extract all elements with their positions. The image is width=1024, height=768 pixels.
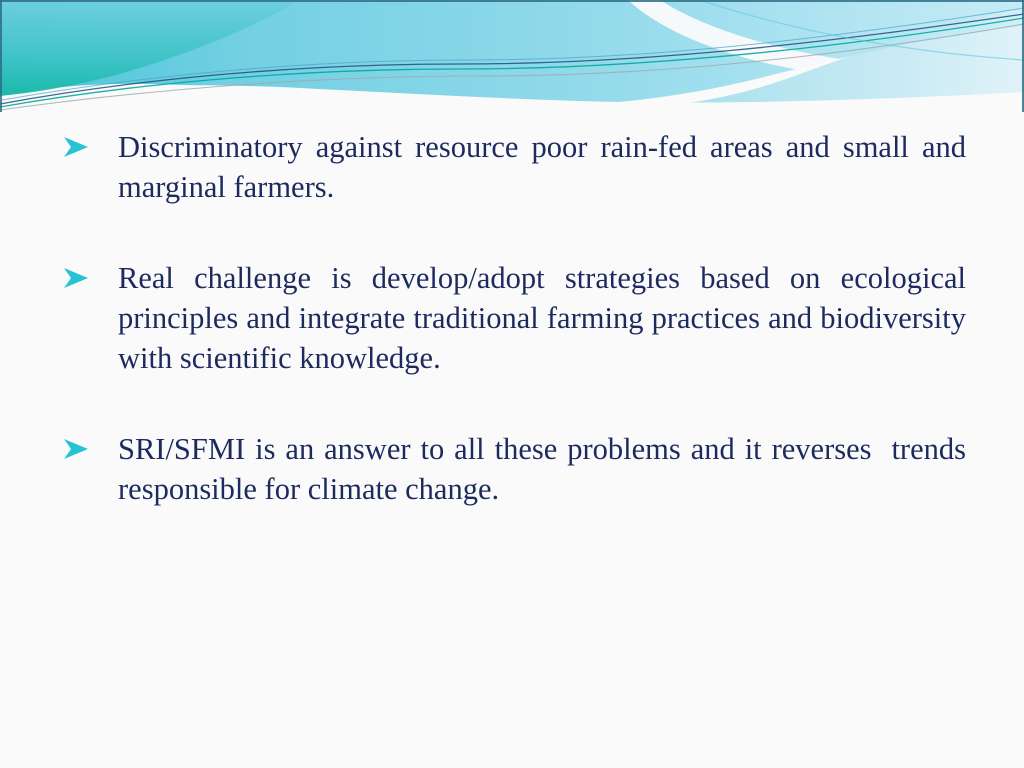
- arrowhead-bullet-icon: [62, 430, 118, 461]
- bullet-item: SRI/SFMI is an answer to all these probl…: [62, 430, 966, 509]
- bullet-text: Discriminatory against resource poor rai…: [118, 128, 966, 207]
- bullet-item: Real challenge is develop/adopt strategi…: [62, 259, 966, 378]
- bullet-item: Discriminatory against resource poor rai…: [62, 128, 966, 207]
- slide-frame-left: [0, 0, 2, 112]
- bullet-text: SRI/SFMI is an answer to all these probl…: [118, 430, 966, 509]
- bullet-text: Real challenge is develop/adopt strategi…: [118, 259, 966, 378]
- arrowhead-bullet-icon: [62, 128, 118, 159]
- presentation-slide: Discriminatory against resource poor rai…: [0, 0, 1024, 768]
- flow-wave-banner: [0, 0, 1024, 112]
- arrowhead-bullet-icon: [62, 259, 118, 290]
- slide-frame-top: [0, 0, 1024, 2]
- slide-body: Discriminatory against resource poor rai…: [62, 128, 966, 509]
